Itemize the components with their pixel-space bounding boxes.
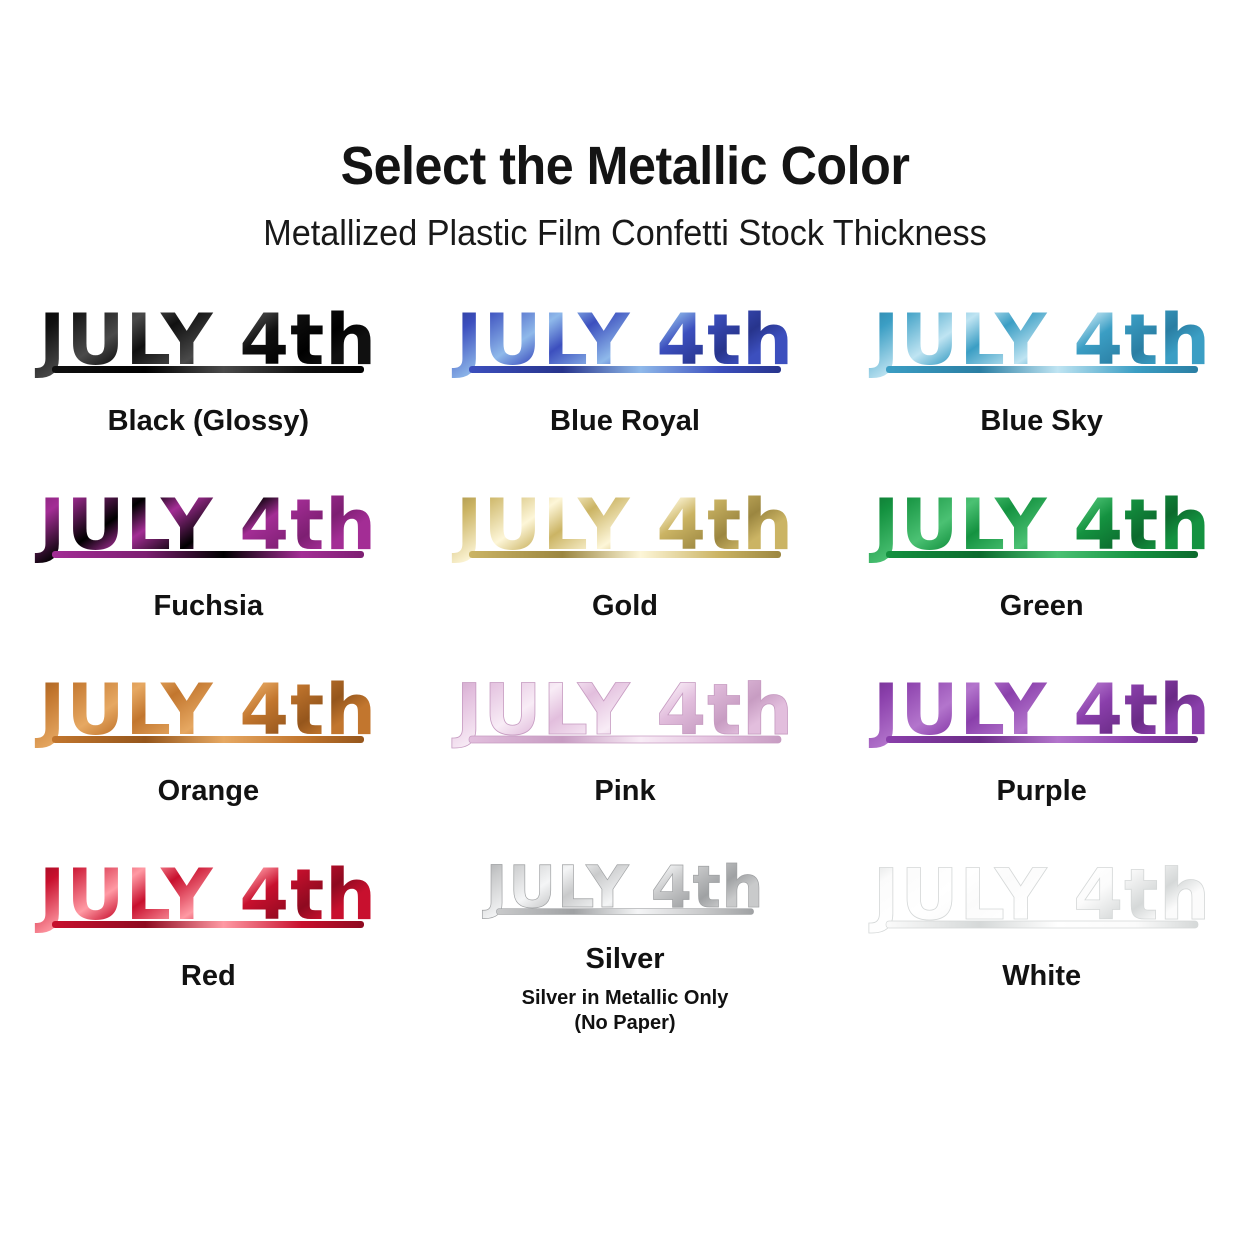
confetti-baseline-bar bbox=[52, 366, 364, 373]
confetti-letters: JULY 4th bbox=[452, 669, 794, 751]
confetti-baseline-bar bbox=[52, 736, 364, 743]
july-4th-confetti-art: JULY 4th bbox=[445, 481, 805, 577]
confetti-letters: JULY 4th bbox=[869, 854, 1211, 936]
confetti-letters: JULY 4th bbox=[35, 484, 377, 566]
july-4th-confetti-art: JULY 4th bbox=[445, 666, 805, 762]
swatch-label: Silver bbox=[585, 944, 664, 976]
confetti-letters: JULY 4th bbox=[35, 669, 377, 751]
swatch-label: Purple bbox=[997, 776, 1087, 808]
july-4th-confetti-art: JULY 4th bbox=[862, 666, 1222, 762]
swatch-label: Green bbox=[1000, 591, 1084, 623]
metallic-color-selector-page: Select the Metallic Color Metallized Pla… bbox=[0, 0, 1250, 1250]
swatch-label: Blue Royal bbox=[550, 406, 700, 438]
confetti-baseline-bar bbox=[52, 921, 364, 928]
july-4th-confetti-art: JULY 4th bbox=[28, 851, 388, 947]
confetti-baseline-bar bbox=[469, 366, 781, 373]
confetti-letters: JULY 4th bbox=[452, 484, 794, 566]
page-subtitle: Metallized Plastic Film Confetti Stock T… bbox=[31, 213, 1219, 253]
july-4th-confetti-art: JULY 4th bbox=[862, 851, 1222, 947]
july-4th-confetti-art: JULY 4th bbox=[445, 296, 805, 392]
swatch-label: Black (Glossy) bbox=[108, 406, 309, 438]
color-swatch-red[interactable]: JULY 4th Red bbox=[0, 851, 417, 1036]
confetti-letters: JULY 4th bbox=[869, 669, 1211, 751]
color-swatch-gold[interactable]: JULY 4th Gold bbox=[417, 481, 834, 666]
july-4th-confetti-art: JULY 4th bbox=[862, 481, 1222, 577]
color-swatch-blue-sky[interactable]: JULY 4th Blue Sky bbox=[833, 296, 1250, 481]
color-swatch-pink[interactable]: JULY 4th Pink bbox=[417, 666, 834, 851]
confetti-baseline-bar bbox=[886, 551, 1198, 558]
confetti-letters: JULY 4th bbox=[482, 854, 765, 921]
swatch-label: White bbox=[1002, 961, 1081, 993]
confetti-letters: JULY 4th bbox=[869, 484, 1211, 566]
confetti-letters: JULY 4th bbox=[35, 299, 377, 381]
color-swatch-orange[interactable]: JULY 4th Orange bbox=[0, 666, 417, 851]
swatch-note: Silver in Metallic Only(No Paper) bbox=[522, 986, 729, 1036]
page-title: Select the Metallic Color bbox=[44, 138, 1207, 195]
swatch-label: Gold bbox=[592, 591, 658, 623]
confetti-letters: JULY 4th bbox=[869, 299, 1211, 381]
swatch-label: Fuchsia bbox=[154, 591, 264, 623]
july-4th-confetti-art: JULY 4th bbox=[862, 296, 1222, 392]
swatch-note-line-2: (No Paper) bbox=[522, 1011, 729, 1036]
confetti-letters: JULY 4th bbox=[452, 299, 794, 381]
swatch-label: Pink bbox=[594, 776, 655, 808]
confetti-baseline-bar bbox=[496, 909, 753, 915]
confetti-baseline-bar bbox=[469, 551, 781, 558]
confetti-baseline-bar bbox=[886, 366, 1198, 373]
confetti-baseline-bar bbox=[469, 736, 781, 743]
confetti-letters: JULY 4th bbox=[35, 854, 377, 936]
confetti-baseline-bar bbox=[886, 921, 1198, 928]
color-swatch-black-glossy[interactable]: JULY 4th Black (Glossy) bbox=[0, 296, 417, 481]
color-swatch-silver[interactable]: JULY 4th SilverSilver in Metallic Only(N… bbox=[417, 851, 834, 1036]
confetti-baseline-bar bbox=[886, 736, 1198, 743]
july-4th-confetti-art: JULY 4th bbox=[28, 296, 388, 392]
july-4th-confetti-art: JULY 4th bbox=[445, 851, 805, 930]
color-swatch-blue-royal[interactable]: JULY 4th Blue Royal bbox=[417, 296, 834, 481]
swatch-note-line-1: Silver in Metallic Only bbox=[522, 986, 729, 1011]
page-header: Select the Metallic Color Metallized Pla… bbox=[0, 0, 1250, 252]
swatch-label: Orange bbox=[158, 776, 260, 808]
color-swatch-grid: JULY 4th Black (Glossy) bbox=[0, 296, 1250, 1036]
swatch-label: Red bbox=[181, 961, 236, 993]
color-swatch-fuchsia[interactable]: JULY 4th Fuchsia bbox=[0, 481, 417, 666]
color-swatch-purple[interactable]: JULY 4th Purple bbox=[833, 666, 1250, 851]
july-4th-confetti-art: JULY 4th bbox=[28, 481, 388, 577]
july-4th-confetti-art: JULY 4th bbox=[28, 666, 388, 762]
color-swatch-white[interactable]: JULY 4th White bbox=[833, 851, 1250, 1036]
confetti-baseline-bar bbox=[52, 551, 364, 558]
color-swatch-green[interactable]: JULY 4th Green bbox=[833, 481, 1250, 666]
swatch-label: Blue Sky bbox=[980, 406, 1103, 438]
